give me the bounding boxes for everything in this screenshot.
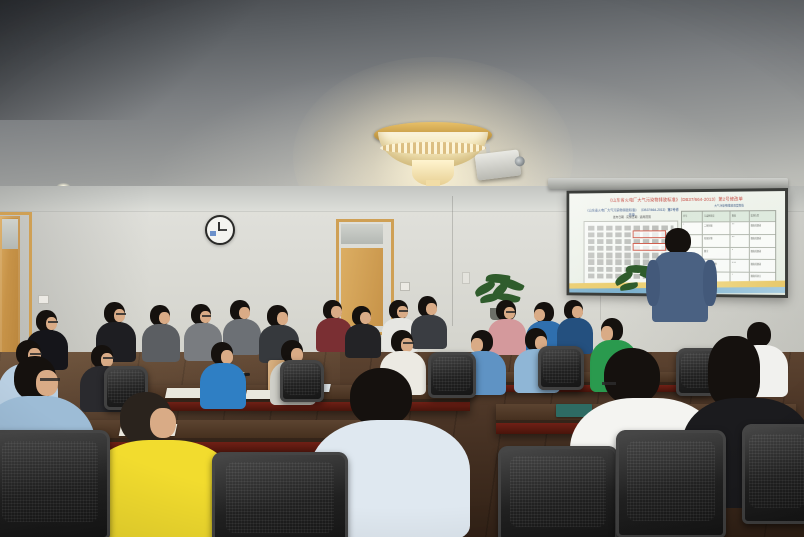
- ceiling-shadow: [0, 0, 260, 120]
- mesh-office-chair: [280, 360, 324, 402]
- light-switch[interactable]: [38, 295, 49, 304]
- power-outlet[interactable]: [400, 282, 410, 291]
- clock-dial-mark: [210, 231, 216, 236]
- mesh-office-chair: [742, 424, 804, 524]
- projection-screen-case: [548, 178, 788, 189]
- chandelier-beads: [380, 142, 486, 154]
- wall-corner: [452, 196, 453, 326]
- wall-clock: [205, 215, 235, 245]
- mesh-office-chair: [0, 430, 110, 537]
- wall-plate: [462, 272, 470, 284]
- left-door-transom: [2, 219, 18, 249]
- mesh-office-chair: [212, 452, 348, 537]
- mesh-office-chair: [538, 346, 584, 390]
- ceiling-projector-icon: [475, 149, 522, 180]
- mesh-office-chair: [428, 352, 476, 398]
- conference-room-photo: 《山东省火电厂大气污染物排放标准》（DB37/664-2013）第2号修改单 《…: [0, 0, 804, 537]
- back-door-transom: [341, 224, 383, 244]
- projector-body: [475, 149, 522, 180]
- mesh-office-chair: [498, 446, 618, 537]
- mesh-office-chair: [616, 430, 726, 537]
